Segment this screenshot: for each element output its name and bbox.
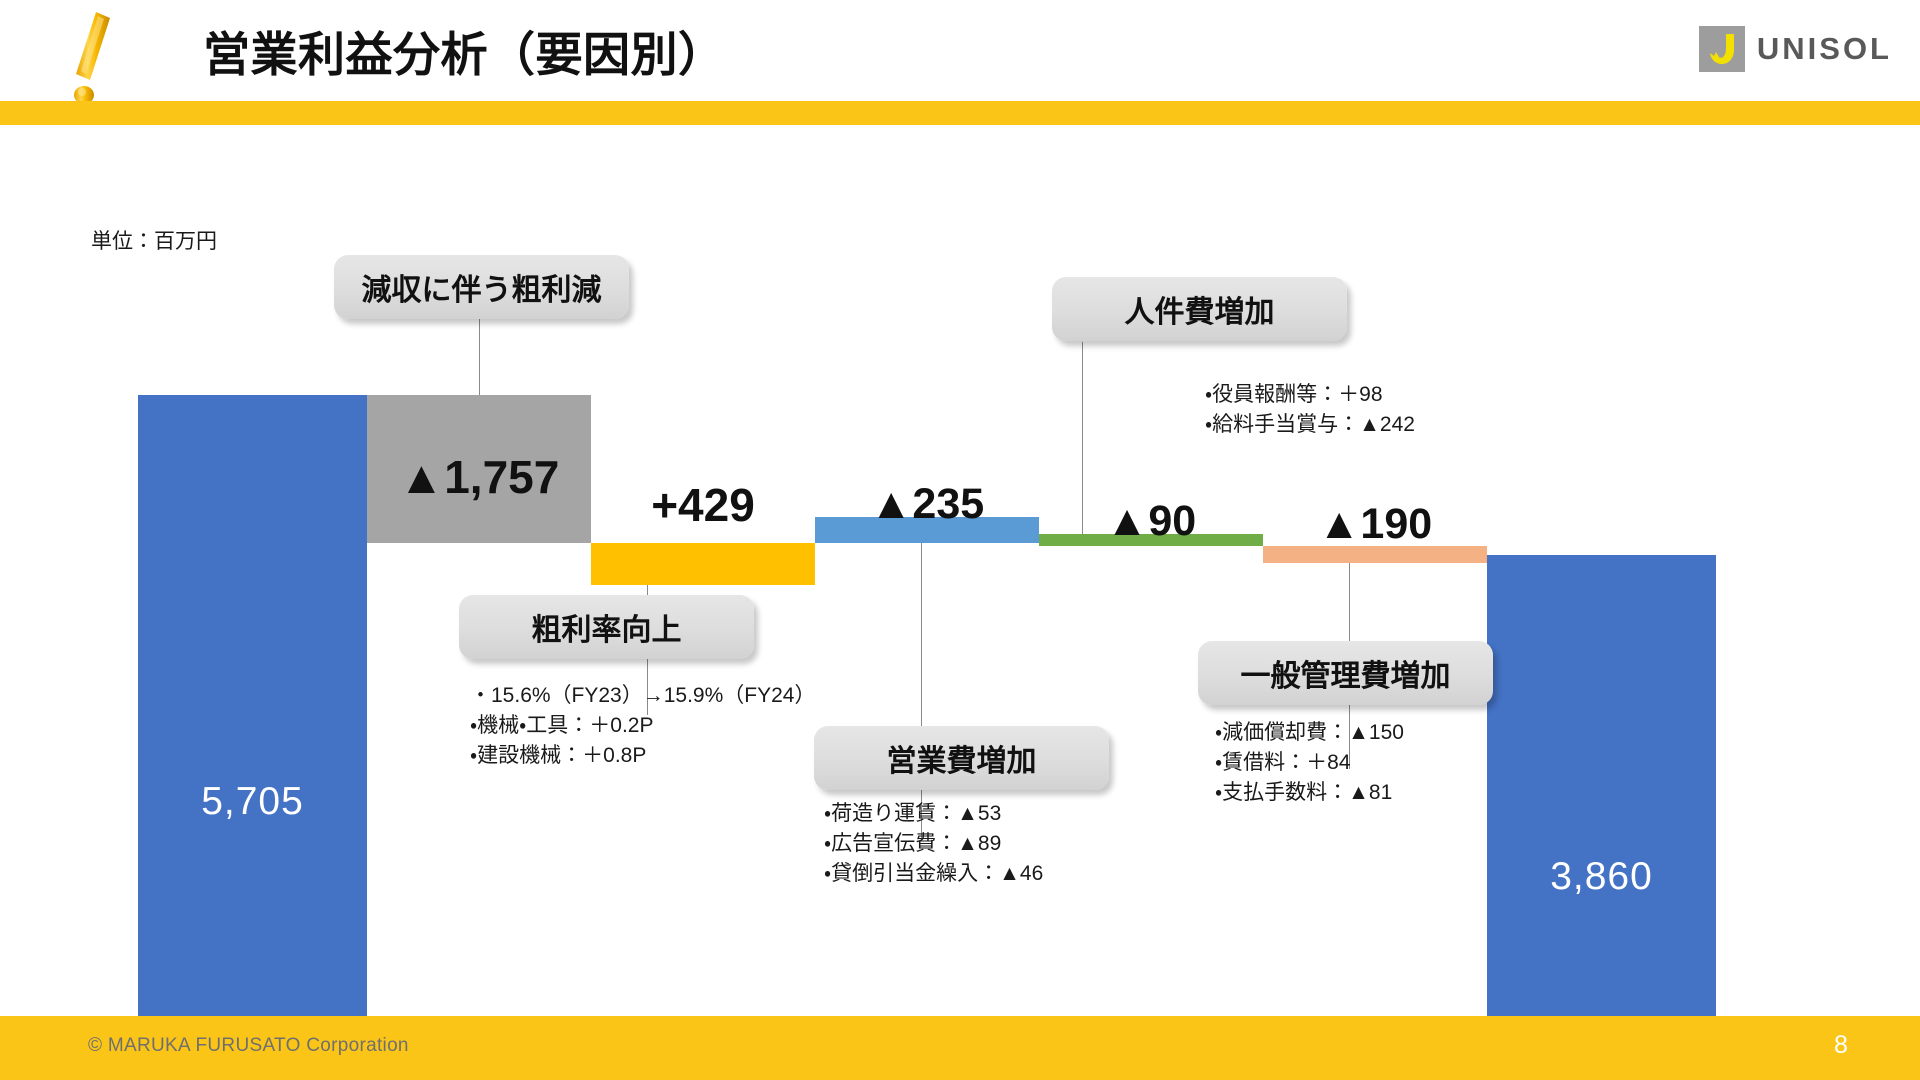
leader-line-selling-expense-increase [921,543,922,839]
bullet-item: ・支払手数料：▲81 [1215,778,1404,808]
slide-root: 営業利益分析（要因別） UNISOL 単位：百万円 5,705 ▲1,757 +… [0,0,1920,1080]
bullet-item: ・賃借料：＋84 [1215,748,1404,778]
bar-value-selling-expense: ▲235 [815,480,1039,529]
footer-copyright: © MARUKA FURUSATO Corporation [88,1035,409,1057]
gold-pen-icon [62,8,126,104]
slide-header: 営業利益分析（要因別） UNISOL [0,0,1920,101]
unisol-logo-mark [1699,26,1745,72]
unisol-logo: UNISOL [1699,26,1892,72]
callout-gross-margin-improvement: 粗利率向上 [459,595,754,659]
bar-value-admin-expense: ▲190 [1263,500,1487,549]
bullets-selling-expense-increase: ・荷造り運賃：▲53 ・広告宣伝費：▲89 ・貸倒引当金繰入：▲46 [824,799,1043,888]
bullet-item: ・建設機械：＋0.8P [470,741,815,771]
bullet-item: ・減価償却費：▲150 [1215,718,1404,748]
waterfall-chart: 単位：百万円 5,705 ▲1,757 +429 ▲235 ▲90 ▲190 3… [0,125,1920,1005]
bullets-admin-expense-increase: ・減価償却費：▲150 ・賃借料：＋84 ・支払手数料：▲81 [1215,718,1404,807]
leader-line-gross-profit-decline [479,318,480,395]
unit-label: 単位：百万円 [91,225,217,255]
bullets-gross-margin-improvement: ・15.6%（FY23）→15.9%（FY24） ・機械・工具：＋0.2P ・建… [470,681,815,770]
unisol-logo-text: UNISOL [1757,31,1892,67]
bullet-item: ・給料手当賞与：▲242 [1205,410,1415,440]
bullet-item: ・貸倒引当金繰入：▲46 [824,859,1043,889]
bullet-item: ・役員報酬等：＋98 [1205,380,1415,410]
bar-value-personnel-cost: ▲90 [1039,497,1263,546]
bullet-item: ・機械・工具：＋0.2P [470,711,815,741]
callout-personnel-cost-increase: 人件費増加 [1052,277,1347,341]
callout-admin-expense-increase: 一般管理費増加 [1198,641,1493,705]
bar-value-sales-change: ▲1,757 [367,450,591,504]
leader-line-personnel-cost-increase [1082,342,1083,534]
callout-gross-profit-decline: 減収に伴う粗利減 [334,255,629,319]
logo-u-icon [1708,33,1736,65]
bar-fy2024: 3,860 [1487,555,1716,1038]
header-gold-rule [0,101,1920,125]
bar-value-fy2024: 3,860 [1487,855,1716,899]
footer-page-number: 8 [1834,1031,1848,1060]
bullet-item: ・15.6%（FY23）→15.9%（FY24） [470,681,815,711]
bar-value-margin-change: +429 [591,478,815,532]
bar-margin-change [591,543,815,585]
bullet-item: ・荷造り運賃：▲53 [824,799,1043,829]
bar-fy2023: 5,705 [138,395,367,1038]
page-title: 営業利益分析（要因別） [203,16,726,85]
bullets-personnel-cost-increase: ・役員報酬等：＋98 ・給料手当賞与：▲242 [1205,380,1415,440]
callout-selling-expense-increase: 営業費増加 [814,726,1109,790]
bar-value-fy2023: 5,705 [138,780,367,824]
bullet-item: ・広告宣伝費：▲89 [824,829,1043,859]
